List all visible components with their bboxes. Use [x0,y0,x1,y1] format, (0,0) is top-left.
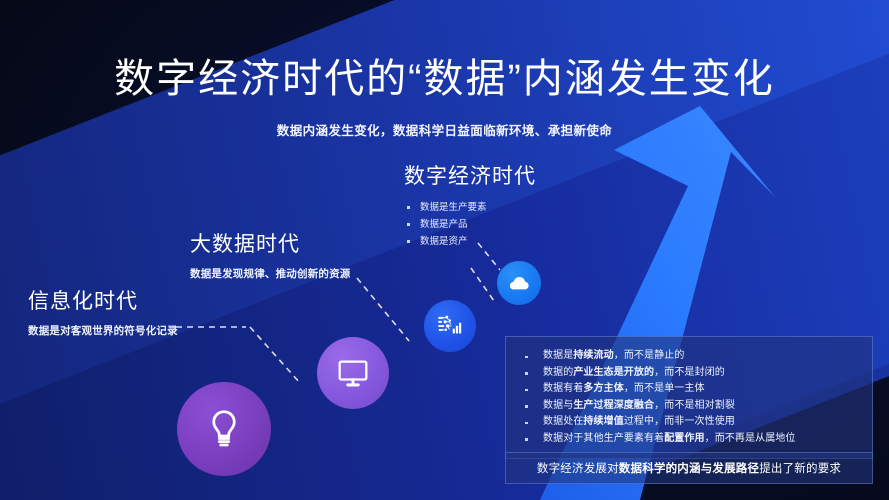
conclusion-banner: 数字经济发展对数据科学的内涵与发展路径提出了新的要求 [505,452,873,484]
bullet-emphasis: 生产过程深度融合 [573,400,654,411]
bullet-post: ，而不是静止的 [614,350,685,361]
stage-title-digital: 数字经济时代 [404,160,536,190]
key-points-list: 数据是持续流动，而不是静止的 数据的产业生态是开放的，而不是封闭的 数据有着多方… [506,348,872,447]
node-lightbulb[interactable] [177,382,271,476]
banner-emphasis: 数据科学的内涵与发展路径 [619,463,759,475]
monitor-icon [336,356,370,390]
bullet-post: ，而不是单一主体 [624,383,705,394]
list-item: 数据有着多方主体，而不是单一主体 [506,381,872,398]
page-subtitle: 数据内涵发生变化，数据科学日益面临新环境、承担新使命 [0,120,889,139]
stage-title-info: 信息化时代 [28,285,178,315]
banner-post: 提出了新的要求 [759,463,841,475]
stage-title-bigdata: 大数据时代 [190,228,351,258]
stage-desc-info: 数据是对客观世界的符号化记录 [28,323,178,338]
list-item: 数据对于其他生产要素有着配置作用，而不再是从属地位 [506,431,872,448]
bullet-post: 过程中，而非一次性使用 [624,416,735,427]
node-cloud[interactable] [497,261,541,305]
bullet-emphasis: 配置作用 [664,433,704,444]
bullet-post: ，而不是封闭的 [654,367,725,378]
bullet-emphasis: 产业生态是开放的 [573,367,654,378]
bullet-post: ，而不再是从属地位 [705,433,796,444]
cloud-icon [507,271,531,295]
stage-desc-bigdata: 数据是发现规律、推动创新的资源 [190,266,351,281]
page-title: 数字经济时代的“数据”内涵发生变化 [0,46,889,104]
stage-block-digital: 数字经济时代 数据是生产要素 数据是产品 数据是资产 [404,160,536,250]
stage-bullet-list-digital: 数据是生产要素 数据是产品 数据是资产 [404,199,536,250]
node-analytics[interactable] [424,300,476,352]
bullet-emphasis: 多方主体 [583,383,623,394]
key-points-panel: 数据是持续流动，而不是静止的 数据的产业生态是开放的，而不是封闭的 数据有着多方… [505,336,873,459]
list-item: 数据是产品 [404,216,536,233]
list-item: 数据是资产 [404,233,536,250]
banner-pre: 数字经济发展对 [537,463,619,475]
conclusion-text: 数字经济发展对数据科学的内涵与发展路径提出了新的要求 [537,460,841,476]
bullet-emphasis: 持续增值 [583,416,623,427]
bullet-pre: 数据的 [543,367,573,378]
stage-block-bigdata: 大数据时代 数据是发现规律、推动创新的资源 [190,228,351,281]
list-item: 数据是持续流动，而不是静止的 [506,348,872,365]
lightbulb-icon [202,407,246,451]
slide-canvas: 数字经济时代的“数据”内涵发生变化 数据内涵发生变化，数据科学日益面临新环境、承… [0,0,889,500]
bullet-pre: 数据处在 [543,416,583,427]
analytics-icon [436,312,464,340]
list-item: 数据的产业生态是开放的，而不是封闭的 [506,365,872,382]
list-item: 数据是生产要素 [404,199,536,216]
stage-block-info: 信息化时代 数据是对客观世界的符号化记录 [28,285,178,338]
bullet-post: ，而不是相对割裂 [654,400,735,411]
node-monitor[interactable] [317,337,389,409]
bullet-pre: 数据对于其他生产要素有着 [543,433,664,444]
bullet-pre: 数据是 [543,350,573,361]
bullet-pre: 数据与 [543,400,573,411]
bullet-emphasis: 持续流动 [573,350,613,361]
list-item: 数据与生产过程深度融合，而不是相对割裂 [506,398,872,415]
list-item: 数据处在持续增值过程中，而非一次性使用 [506,414,872,431]
bullet-pre: 数据有着 [543,383,583,394]
